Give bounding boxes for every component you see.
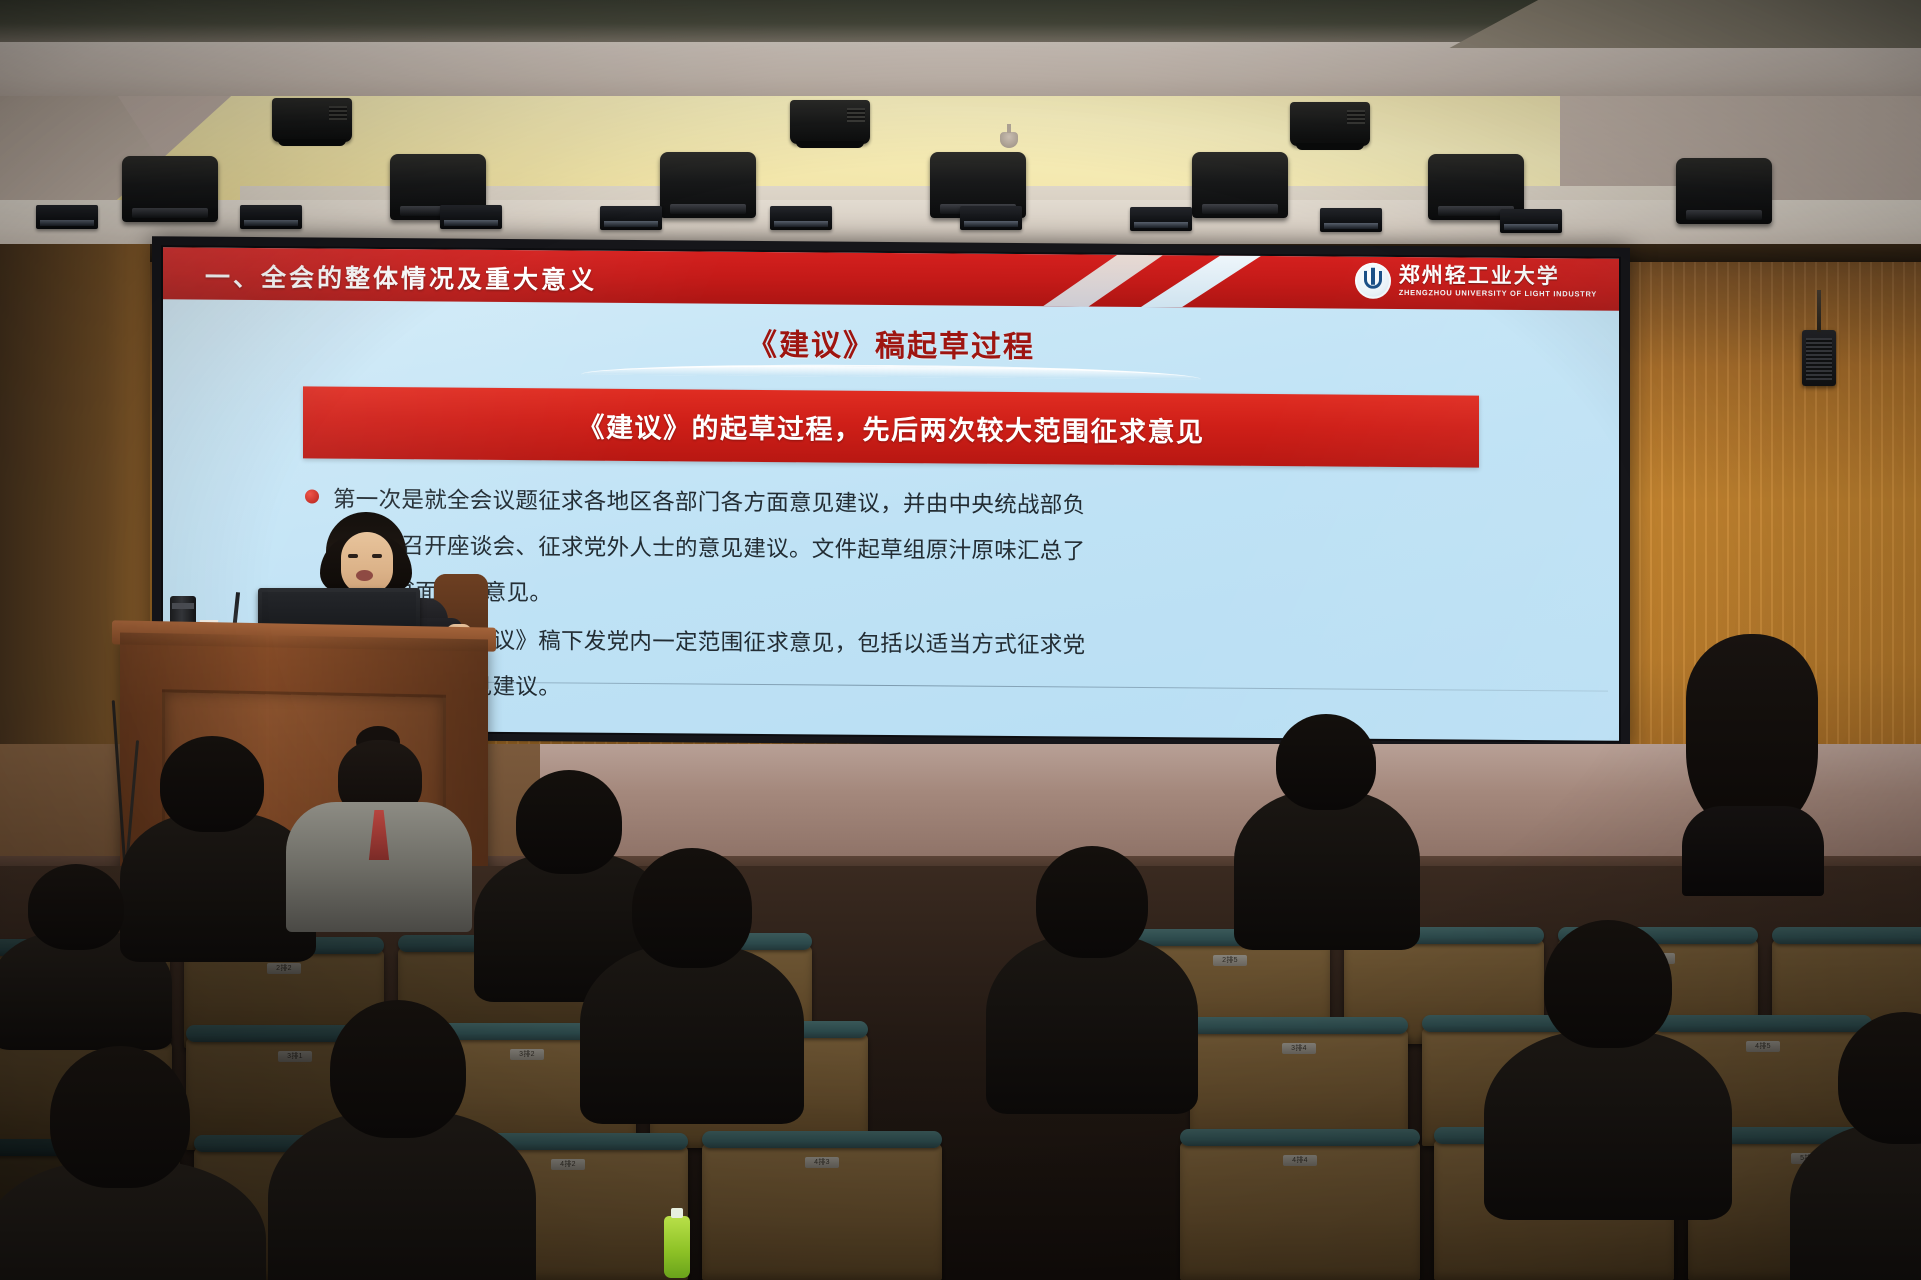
university-logo: 郑州轻工业大学 ZHENGZHOU UNIVERSITY OF LIGHT IN… <box>1355 263 1597 301</box>
stage-light-icon <box>960 206 1022 230</box>
audience-person-front <box>286 740 472 920</box>
bullet-line: 112份书面反馈意见。 <box>333 569 1485 624</box>
slide-header-bar: 一、全会的整体情况及重大意义 郑州轻工业大学 ZHENGZHOU UNIVERS… <box>163 247 1619 310</box>
audience-head <box>1276 714 1376 810</box>
slide-header-title: 一、全会的整体情况及重大意义 <box>205 258 597 297</box>
stage-light-icon <box>36 205 98 229</box>
slide-title: 《建议》稿起草过程 <box>163 315 1619 370</box>
audience-shoulders <box>986 934 1198 1114</box>
stage-light-icon <box>1130 207 1192 231</box>
university-name-en: ZHENGZHOU UNIVERSITY OF LIGHT INDUSTRY <box>1399 289 1597 298</box>
seat-number-tag: 3排4 <box>1282 1043 1316 1054</box>
audience-head <box>516 770 622 874</box>
audience-shoulders <box>1484 1030 1732 1220</box>
bullet-line: 分老同志的意见建议。 <box>333 663 1485 718</box>
stage-light-icon <box>122 156 218 222</box>
wall-speaker-icon <box>1802 330 1836 386</box>
seat-number-tag: 2排2 <box>267 963 301 974</box>
audience-shoulders <box>580 944 804 1124</box>
stage-light-icon <box>1676 158 1772 224</box>
audience-torso <box>1682 806 1824 896</box>
water-bottle <box>664 1216 690 1278</box>
stage-light-icon <box>1320 208 1382 232</box>
seat-number-tag: 4排5 <box>1746 1041 1780 1052</box>
slide-highlight-banner: 《建议》的起草过程，先后两次较大范围征求意见 <box>303 386 1479 467</box>
stage-light-icon <box>440 205 502 229</box>
auditorium-seat: 4排3 <box>702 1144 942 1280</box>
bullet-dot-icon <box>305 489 319 503</box>
audience-head <box>50 1046 190 1188</box>
seat-number-tag: 3排2 <box>510 1049 544 1060</box>
seat-number-tag: 2排5 <box>1213 955 1247 966</box>
stage-light-icon <box>1290 102 1370 146</box>
header-notch-decoration <box>1043 254 1163 307</box>
stage-light-icon <box>1500 209 1562 233</box>
bullet-text-block: 第一次是就全会议题征求各地区各部门各方面意见建议，并由中央统战部负 责组织召开座… <box>333 477 1485 624</box>
audience-head <box>330 1000 466 1138</box>
bullet-text-block: 第二次是就《建议》稿下发党内一定范围征求意见，包括以适当方式征求党 分老同志的意… <box>333 617 1485 718</box>
speaker-face <box>341 532 393 594</box>
slide-highlight-banner-text: 《建议》的起草过程，先后两次较大范围征求意见 <box>578 405 1205 449</box>
seat-number-tag: 4排4 <box>1283 1155 1317 1166</box>
lecture-hall-scene: 一、全会的整体情况及重大意义 郑州轻工业大学 ZHENGZHOU UNIVERS… <box>0 0 1921 1280</box>
header-diagonal-stripe <box>1141 255 1261 308</box>
audience-head <box>160 736 264 832</box>
ceiling <box>0 0 1921 250</box>
stage-light-icon <box>240 205 302 229</box>
seat-number-tag: 4排2 <box>551 1159 585 1170</box>
stage-light-icon <box>1192 152 1288 218</box>
audience-head <box>1544 920 1672 1048</box>
stage-light-icon <box>660 152 756 218</box>
seat-number-tag: 4排3 <box>805 1157 839 1168</box>
audience-hair <box>1686 634 1818 830</box>
university-emblem-icon <box>1355 263 1391 299</box>
stage-light-icon <box>770 206 832 230</box>
audience-person-right <box>1676 634 1824 884</box>
audience-head <box>632 848 752 968</box>
audience-shoulders <box>1234 790 1420 950</box>
ceiling-beam <box>0 48 1921 96</box>
stage-light-icon <box>790 100 870 144</box>
audience-head <box>28 864 124 950</box>
audience-head <box>1036 846 1148 958</box>
stage-light-icon <box>600 206 662 230</box>
smoke-detector-icon <box>1000 132 1018 148</box>
university-logo-text: 郑州轻工业大学 ZHENGZHOU UNIVERSITY OF LIGHT IN… <box>1399 265 1597 298</box>
university-name-cn: 郑州轻工业大学 <box>1399 265 1597 288</box>
seat-number-tag: 3排1 <box>278 1051 312 1062</box>
auditorium-seat: 4排4 <box>1180 1142 1420 1280</box>
stage-light-icon <box>272 98 352 142</box>
